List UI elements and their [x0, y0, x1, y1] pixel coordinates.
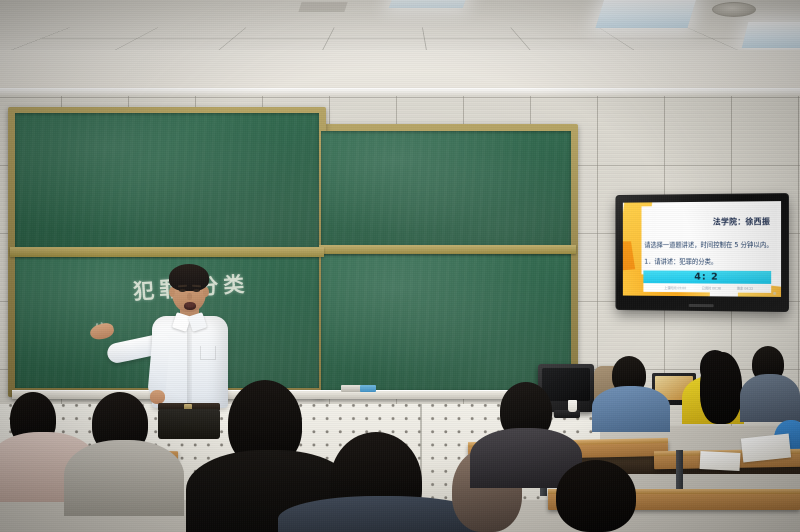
display-screen[interactable]: 法学院：徐西振 请选择一道题讲述，时间控制在 5 分钟以内。 1．请讲述：犯罪的… — [623, 201, 781, 297]
countdown-timer: 4: 2 上课时间 05:00 已用时 00:38 剩余 04:22 — [643, 270, 771, 292]
display-brand-logo — [688, 304, 713, 307]
ceiling-vent — [298, 2, 347, 12]
handout-papers[interactable] — [700, 451, 741, 471]
timer-legend-item: 已用时 00:38 — [702, 285, 721, 290]
timer-legend-item: 剩余 04:22 — [737, 285, 753, 290]
display-power-led-icon — [773, 292, 776, 295]
instructor-ear — [203, 287, 209, 297]
attendee-denim-jacket — [592, 386, 670, 432]
instructor-shirt-placket — [187, 324, 192, 404]
list-item — [556, 460, 636, 532]
instructor-mouth — [184, 302, 196, 310]
slide-instruction: 请选择一道题讲述，时间控制在 5 分钟以内。 — [644, 239, 773, 249]
instructor-trousers — [158, 409, 220, 439]
attendee-glasses-man — [740, 374, 800, 422]
instructor-nose — [187, 293, 192, 300]
timer-legend-item: 上课时间 05:00 — [664, 285, 686, 290]
attendee-gray-sweater — [64, 440, 184, 516]
instructor-eye — [179, 289, 186, 292]
chalk-box[interactable] — [360, 385, 376, 392]
blackboard-assembly: 犯罪 分类 分 — [8, 104, 576, 404]
presentation-slide: 法学院：徐西振 请选择一道题讲述，时间控制在 5 分钟以内。 1．请讲述：犯罪的… — [623, 201, 781, 297]
slide-title: 法学院：徐西振 — [713, 216, 770, 227]
attendee-long-hair-right — [700, 352, 742, 424]
monitor-stand — [554, 410, 580, 418]
monitor-screen — [542, 368, 590, 401]
timer-value: 4: 2 — [643, 270, 771, 283]
ceiling-light-panel — [742, 22, 800, 48]
classroom-scene: 犯罪 分类 分 法学院：徐西振 请选择一道题讲述，时间控制在 5 分钟以内。 1… — [0, 0, 800, 532]
instructor-right-hand — [150, 390, 165, 404]
ceiling-light-panel — [389, 0, 470, 8]
blackboard-panel-rear-upper — [321, 131, 571, 247]
instructor-hair — [169, 264, 209, 291]
paper-cup[interactable] — [568, 400, 577, 412]
timer-progress-bar: 4: 2 — [643, 270, 771, 283]
handout-papers[interactable] — [741, 434, 791, 463]
ceiling-light-panel — [595, 0, 696, 28]
timer-legend: 上课时间 05:00 已用时 00:38 剩余 04:22 — [657, 284, 762, 291]
ceiling-speaker-icon — [712, 2, 756, 17]
blackboard-panel-front-upper — [15, 113, 319, 249]
slide-question: 1．请讲述：犯罪的分类。 — [644, 256, 717, 266]
blackboard-panel-rear-lower — [321, 254, 571, 390]
wall-mounted-display[interactable]: 法学院：徐西振 请选择一道题讲述，时间控制在 5 分钟以内。 1．请讲述：犯罪的… — [616, 194, 788, 311]
instructor-eye — [193, 289, 200, 292]
slide-content-area: 法学院：徐西振 请选择一道题讲述，时间控制在 5 分钟以内。 1．请讲述：犯罪的… — [642, 205, 778, 275]
instructor-shirt-pocket — [200, 346, 216, 360]
blackboard-mullion-rear — [316, 245, 576, 254]
